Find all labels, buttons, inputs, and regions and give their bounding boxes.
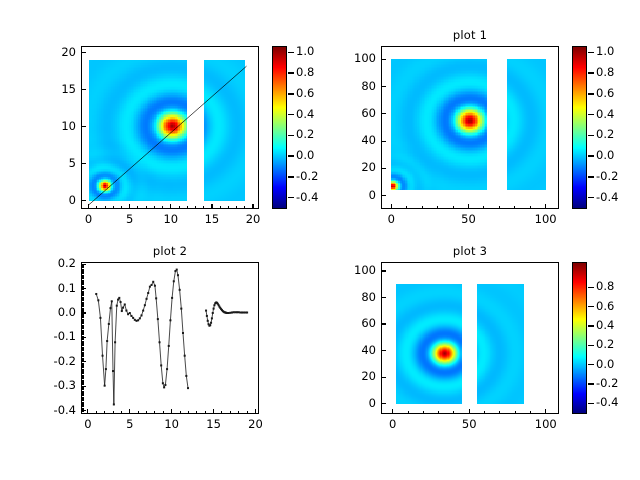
cbar-ticklabel-1-2: 0.6 — [596, 88, 636, 99]
ytick-minor-2 — [81, 264, 84, 265]
cbar-tick-0-5 — [288, 155, 294, 156]
ytick-minor-2 — [81, 291, 84, 292]
xtick-minor-0 — [154, 206, 155, 209]
ytick-minor-2 — [81, 299, 84, 300]
xtick-minor-0 — [187, 206, 188, 209]
plot-title-3: plot 3 — [381, 244, 559, 258]
cbar-tick-0-1 — [288, 72, 294, 73]
ytick-minor-2 — [81, 360, 84, 361]
cbar-ticklabel-3-5: -0.2 — [596, 378, 636, 389]
ytick-minor-2 — [81, 384, 84, 385]
ytick-minor-2 — [81, 326, 84, 327]
ytick-minor-2 — [81, 315, 84, 316]
ytick-minor-2 — [81, 398, 84, 399]
ytick-major-3-2 — [381, 350, 386, 351]
ytick-minor-2 — [81, 322, 84, 323]
ytick-minor-2 — [81, 323, 84, 324]
xtick-minor-0 — [146, 206, 147, 209]
ytick-major-0-4 — [81, 52, 86, 53]
cbar-tick-1-4 — [588, 135, 594, 136]
yticklabel-0-4: 20 — [35, 47, 76, 58]
xticklabel-2-0: 0 — [66, 419, 110, 430]
cbar-ticklabel-3-6: -0.4 — [596, 397, 636, 408]
xticklabel-3-2: 100 — [524, 419, 568, 430]
xtick-minor-2 — [180, 411, 181, 414]
ytick-minor-2 — [81, 343, 84, 344]
ytick-minor-2 — [81, 302, 84, 303]
xtick-minor-0 — [228, 206, 229, 209]
ytick-minor-2 — [81, 413, 84, 414]
ytick-minor-2 — [81, 341, 84, 342]
xtick-minor-1 — [406, 206, 407, 209]
ytick-major-0-2 — [81, 126, 86, 127]
cbar-ticklabel-0-7: -0.4 — [296, 192, 336, 203]
ytick-minor-2 — [81, 359, 84, 360]
ytick-minor-2 — [81, 411, 84, 412]
ytick-minor-2 — [81, 375, 84, 376]
cbar-ticklabel-1-0: 1.0 — [596, 46, 636, 57]
cbar-ticklabel-1-3: 0.4 — [596, 109, 636, 120]
cbar-ticklabel-3-2: 0.4 — [596, 320, 636, 331]
xtick-minor-0 — [105, 206, 106, 209]
xtick-minor-1 — [545, 206, 546, 209]
yticklabel-2-4: -0.2 — [35, 356, 76, 367]
xtick-minor-2 — [196, 411, 197, 414]
ytick-major-3-1 — [381, 377, 386, 378]
cbar-ticklabel-1-5: 0.0 — [596, 150, 636, 161]
ytick-minor-2 — [81, 376, 84, 377]
ytick-minor-2 — [81, 344, 84, 345]
ytick-minor-2 — [81, 409, 84, 410]
yticklabel-3-1: 20 — [335, 371, 376, 382]
ytick-minor-2 — [81, 378, 84, 379]
ytick-minor-2 — [81, 317, 84, 318]
xtick-minor-2 — [247, 411, 248, 414]
ytick-minor-2 — [81, 353, 84, 354]
ytick-major-1-1 — [381, 168, 386, 169]
yticklabel-1-3: 60 — [335, 108, 376, 119]
ytick-minor-2 — [81, 308, 84, 309]
xtick-minor-2 — [205, 411, 206, 414]
ytick-minor-2 — [81, 347, 84, 348]
xticklabel-0-4: 20 — [231, 214, 275, 225]
ytick-minor-2 — [81, 381, 84, 382]
xtick-minor-0 — [236, 206, 237, 209]
xtick-minor-0 — [195, 206, 196, 209]
ytick-minor-2 — [81, 364, 84, 365]
yticklabel-3-0: 0 — [335, 398, 376, 409]
ytick-minor-2 — [81, 331, 84, 332]
ytick-minor-2 — [81, 356, 84, 357]
xtick-minor-1 — [391, 206, 392, 209]
ytick-minor-2 — [81, 382, 84, 383]
ytick-minor-2 — [81, 298, 84, 299]
yticklabel-2-6: -0.4 — [35, 405, 76, 416]
ytick-minor-2 — [81, 334, 84, 335]
cbar-tick-1-7 — [588, 197, 594, 198]
xtick-minor-1 — [514, 206, 515, 209]
ytick-minor-2 — [81, 330, 84, 331]
xticklabel-2-1: 5 — [108, 419, 152, 430]
ytick-minor-2 — [81, 370, 84, 371]
ytick-minor-2 — [81, 350, 84, 351]
plot-title-2: plot 2 — [81, 244, 259, 258]
ytick-minor-2 — [81, 387, 84, 388]
ytick-minor-2 — [81, 265, 84, 266]
xtick-minor-0 — [96, 206, 97, 209]
ytick-minor-2 — [81, 337, 84, 338]
cbar-ticklabel-1-7: -0.4 — [596, 192, 636, 203]
cbar-tick-3-5 — [588, 383, 594, 384]
cbar-tick-3-0 — [588, 287, 594, 288]
xticklabel-2-2: 10 — [150, 419, 194, 430]
ytick-minor-2 — [81, 276, 84, 277]
xticklabel-0-1: 5 — [108, 214, 152, 225]
colorbar-3 — [572, 262, 587, 414]
ytick-major-1-3 — [381, 113, 386, 114]
yticklabel-1-5: 100 — [335, 53, 376, 64]
ytick-minor-2 — [81, 406, 84, 407]
ytick-minor-2 — [81, 316, 84, 317]
xtick-minor-2 — [138, 411, 139, 414]
cbar-ticklabel-0-3: 0.4 — [296, 109, 336, 120]
ytick-minor-2 — [81, 408, 84, 409]
ytick-minor-2 — [81, 402, 84, 403]
plot-surface-2 — [82, 263, 258, 413]
ytick-minor-2 — [81, 391, 84, 392]
cbar-ticklabel-0-0: 1.0 — [296, 46, 336, 57]
xtick-minor-1 — [483, 206, 484, 209]
xtick-minor-3 — [423, 411, 424, 414]
cbar-ticklabel-1-1: 0.8 — [596, 67, 636, 78]
cbar-tick-1-1 — [588, 72, 594, 73]
ytick-minor-2 — [81, 372, 84, 373]
ytick-minor-2 — [81, 377, 84, 378]
plot-surface-0 — [82, 47, 258, 208]
xticklabel-0-3: 15 — [190, 214, 234, 225]
ytick-minor-2 — [81, 328, 84, 329]
ytick-minor-2 — [81, 313, 84, 314]
ytick-minor-2 — [81, 388, 84, 389]
cbar-tick-1-3 — [588, 114, 594, 115]
ytick-minor-2 — [81, 410, 84, 411]
cbar-tick-0-3 — [288, 114, 294, 115]
figure-canvas: 05101520051015201.00.80.60.40.20.0-0.2-0… — [0, 0, 640, 480]
yticklabel-2-3: -0.1 — [35, 331, 76, 342]
cbar-ticklabel-1-6: -0.2 — [596, 171, 636, 182]
xtick-minor-3 — [545, 411, 546, 414]
xtick-minor-3 — [530, 411, 531, 414]
xtick-minor-1 — [453, 206, 454, 209]
xtick-minor-2 — [129, 411, 130, 414]
xtick-minor-0 — [121, 206, 122, 209]
ytick-major-1-4 — [381, 86, 386, 87]
ytick-minor-2 — [81, 306, 84, 307]
ytick-minor-2 — [81, 275, 84, 276]
xtick-minor-1 — [468, 206, 469, 209]
cbar-tick-3-3 — [588, 345, 594, 346]
ytick-minor-2 — [81, 309, 84, 310]
axes-2 — [81, 262, 259, 414]
xtick-minor-3 — [408, 411, 409, 414]
ytick-minor-2 — [81, 325, 84, 326]
yticklabel-3-4: 80 — [335, 292, 376, 303]
colorbar-gradient-1 — [573, 47, 586, 208]
ytick-minor-2 — [81, 392, 84, 393]
plot-surface-3 — [382, 263, 558, 413]
xtick-minor-0 — [211, 206, 212, 209]
xtick-minor-2 — [238, 411, 239, 414]
xtick-minor-3 — [469, 411, 470, 414]
xtick-minor-1 — [530, 206, 531, 209]
xticklabel-0-2: 10 — [149, 214, 193, 225]
xtick-minor-2 — [255, 411, 256, 414]
ytick-minor-2 — [81, 393, 84, 394]
cbar-ticklabel-3-4: 0.0 — [596, 359, 636, 370]
ytick-minor-2 — [81, 280, 84, 281]
xtick-minor-2 — [104, 411, 105, 414]
xtick-minor-3 — [499, 411, 500, 414]
ytick-minor-2 — [81, 303, 84, 304]
ytick-minor-2 — [81, 394, 84, 395]
ytick-minor-2 — [81, 380, 84, 381]
axes-3 — [381, 262, 559, 414]
ytick-minor-2 — [81, 342, 84, 343]
cbar-tick-1-2 — [588, 93, 594, 94]
ytick-minor-2 — [81, 271, 84, 272]
ytick-major-0-1 — [81, 163, 86, 164]
cbar-ticklabel-0-4: 0.2 — [296, 129, 336, 140]
cbar-tick-0-0 — [288, 52, 294, 53]
yticklabel-2-5: -0.3 — [35, 380, 76, 391]
cbar-tick-0-7 — [288, 197, 294, 198]
ytick-minor-2 — [81, 319, 84, 320]
xtick-minor-1 — [437, 206, 438, 209]
xticklabel-3-1: 50 — [447, 419, 491, 430]
ytick-major-0-0 — [81, 200, 86, 201]
xtick-minor-2 — [154, 411, 155, 414]
xtick-minor-3 — [438, 411, 439, 414]
ytick-major-3-4 — [381, 297, 386, 298]
ytick-minor-2 — [81, 288, 84, 289]
colorbar-0 — [272, 46, 287, 209]
xtick-minor-0 — [203, 206, 204, 209]
ytick-minor-2 — [81, 267, 84, 268]
ytick-minor-2 — [81, 400, 84, 401]
yticklabel-0-0: 0 — [35, 195, 76, 206]
xtick-minor-2 — [230, 411, 231, 414]
ytick-minor-2 — [81, 287, 84, 288]
ytick-minor-2 — [81, 363, 84, 364]
ytick-major-1-2 — [381, 141, 386, 142]
ytick-minor-2 — [81, 397, 84, 398]
ytick-minor-2 — [81, 404, 84, 405]
yticklabel-3-3: 60 — [335, 318, 376, 329]
ytick-minor-2 — [81, 281, 84, 282]
yticklabel-0-3: 15 — [35, 84, 76, 95]
cbar-tick-1-6 — [588, 176, 594, 177]
cbar-ticklabel-1-4: 0.2 — [596, 129, 636, 140]
xtick-minor-0 — [220, 206, 221, 209]
ytick-minor-2 — [81, 270, 84, 271]
ytick-minor-2 — [81, 338, 84, 339]
ytick-minor-2 — [81, 386, 84, 387]
cbar-ticklabel-3-0: 0.8 — [596, 281, 636, 292]
ytick-major-3-3 — [381, 323, 386, 324]
ytick-minor-2 — [81, 348, 84, 349]
ytick-minor-2 — [81, 336, 84, 337]
xtick-minor-2 — [87, 411, 88, 414]
ytick-minor-2 — [81, 305, 84, 306]
axes-0 — [81, 46, 259, 209]
yticklabel-1-1: 20 — [335, 162, 376, 173]
ytick-minor-2 — [81, 389, 84, 390]
ytick-minor-2 — [81, 361, 84, 362]
xtick-minor-0 — [88, 206, 89, 209]
xticklabel-2-4: 20 — [233, 419, 277, 430]
cbar-ticklabel-0-6: -0.2 — [296, 171, 336, 182]
yticklabel-2-0: 0.2 — [35, 258, 76, 269]
ytick-minor-2 — [81, 300, 84, 301]
ytick-minor-2 — [81, 294, 84, 295]
xtick-minor-2 — [188, 411, 189, 414]
xtick-minor-0 — [170, 206, 171, 209]
xtick-minor-2 — [213, 411, 214, 414]
ytick-minor-2 — [81, 395, 84, 396]
yticklabel-0-1: 5 — [35, 158, 76, 169]
xticklabel-1-0: 0 — [369, 214, 413, 225]
ytick-minor-2 — [81, 355, 84, 356]
xtick-minor-1 — [422, 206, 423, 209]
ytick-minor-2 — [81, 273, 84, 274]
ytick-minor-2 — [81, 403, 84, 404]
xtick-minor-3 — [484, 411, 485, 414]
xtick-minor-2 — [96, 411, 97, 414]
plot-surface-1 — [382, 47, 558, 208]
ytick-minor-2 — [81, 383, 84, 384]
xtick-minor-1 — [499, 206, 500, 209]
cbar-ticklabel-0-1: 0.8 — [296, 67, 336, 78]
xticklabel-2-3: 15 — [192, 419, 236, 430]
ytick-minor-2 — [81, 367, 84, 368]
xtick-minor-0 — [253, 206, 254, 209]
ytick-major-0-3 — [81, 89, 86, 90]
ytick-minor-2 — [81, 283, 84, 284]
ytick-major-1-0 — [381, 195, 386, 196]
ytick-minor-2 — [81, 295, 84, 296]
xtick-minor-2 — [146, 411, 147, 414]
cbar-tick-1-0 — [588, 52, 594, 53]
cbar-ticklabel-3-3: 0.2 — [596, 339, 636, 350]
ytick-minor-2 — [81, 321, 84, 322]
ytick-minor-2 — [81, 349, 84, 350]
xtick-minor-0 — [129, 206, 130, 209]
xtick-minor-0 — [137, 206, 138, 209]
ytick-major-1-5 — [381, 59, 386, 60]
colorbar-gradient-3 — [573, 263, 586, 413]
xtick-minor-2 — [121, 411, 122, 414]
ytick-minor-2 — [81, 297, 84, 298]
ytick-minor-2 — [81, 354, 84, 355]
cbar-tick-3-4 — [588, 364, 594, 365]
xtick-minor-3 — [515, 411, 516, 414]
cbar-tick-3-6 — [588, 403, 594, 404]
ytick-minor-2 — [81, 365, 84, 366]
ytick-minor-2 — [81, 339, 84, 340]
ytick-minor-2 — [81, 373, 84, 374]
xtick-minor-3 — [392, 411, 393, 414]
xtick-minor-2 — [221, 411, 222, 414]
cbar-tick-1-5 — [588, 155, 594, 156]
xtick-minor-0 — [179, 206, 180, 209]
cbar-tick-0-2 — [288, 93, 294, 94]
plot-title-1: plot 1 — [381, 28, 559, 42]
xtick-minor-0 — [113, 206, 114, 209]
xtick-minor-0 — [244, 206, 245, 209]
ytick-minor-2 — [81, 289, 84, 290]
ytick-minor-2 — [81, 269, 84, 270]
yticklabel-1-4: 80 — [335, 81, 376, 92]
ytick-minor-2 — [81, 278, 84, 279]
cbar-ticklabel-3-1: 0.6 — [596, 301, 636, 312]
ytick-minor-2 — [81, 311, 84, 312]
ytick-minor-2 — [81, 358, 84, 359]
yticklabel-1-2: 40 — [335, 135, 376, 146]
ytick-minor-2 — [81, 310, 84, 311]
yticklabel-0-2: 10 — [35, 121, 76, 132]
cbar-tick-3-2 — [588, 325, 594, 326]
cbar-ticklabel-0-2: 0.6 — [296, 88, 336, 99]
ytick-minor-2 — [81, 304, 84, 305]
cbar-tick-0-6 — [288, 176, 294, 177]
yticklabel-2-2: 0.0 — [35, 307, 76, 318]
xtick-minor-2 — [163, 411, 164, 414]
cbar-tick-0-4 — [288, 135, 294, 136]
colorbar-1 — [572, 46, 587, 209]
ytick-minor-2 — [81, 352, 84, 353]
xticklabel-1-1: 50 — [446, 214, 490, 225]
ytick-minor-2 — [81, 286, 84, 287]
ytick-minor-2 — [81, 327, 84, 328]
ytick-minor-2 — [81, 345, 84, 346]
ytick-minor-2 — [81, 332, 84, 333]
ytick-minor-2 — [81, 369, 84, 370]
ytick-minor-2 — [81, 333, 84, 334]
yticklabel-3-2: 40 — [335, 345, 376, 356]
colorbar-gradient-0 — [273, 47, 286, 208]
ytick-minor-2 — [81, 282, 84, 283]
ytick-minor-2 — [81, 266, 84, 267]
ytick-minor-2 — [81, 366, 84, 367]
ytick-minor-2 — [81, 292, 84, 293]
ytick-minor-2 — [81, 277, 84, 278]
xtick-minor-3 — [453, 411, 454, 414]
axes-1 — [381, 46, 559, 209]
xtick-minor-2 — [171, 411, 172, 414]
xticklabel-0-0: 0 — [67, 214, 111, 225]
cbar-tick-3-1 — [588, 306, 594, 307]
ytick-major-3-5 — [381, 270, 386, 271]
ytick-minor-2 — [81, 320, 84, 321]
yticklabel-1-0: 0 — [335, 190, 376, 201]
ytick-minor-2 — [81, 272, 84, 273]
ytick-major-3-0 — [381, 403, 386, 404]
xticklabel-3-0: 0 — [371, 419, 415, 430]
yticklabel-3-5: 100 — [335, 265, 376, 276]
ytick-minor-2 — [81, 284, 84, 285]
xtick-minor-0 — [162, 206, 163, 209]
cbar-ticklabel-0-5: 0.0 — [296, 150, 336, 161]
